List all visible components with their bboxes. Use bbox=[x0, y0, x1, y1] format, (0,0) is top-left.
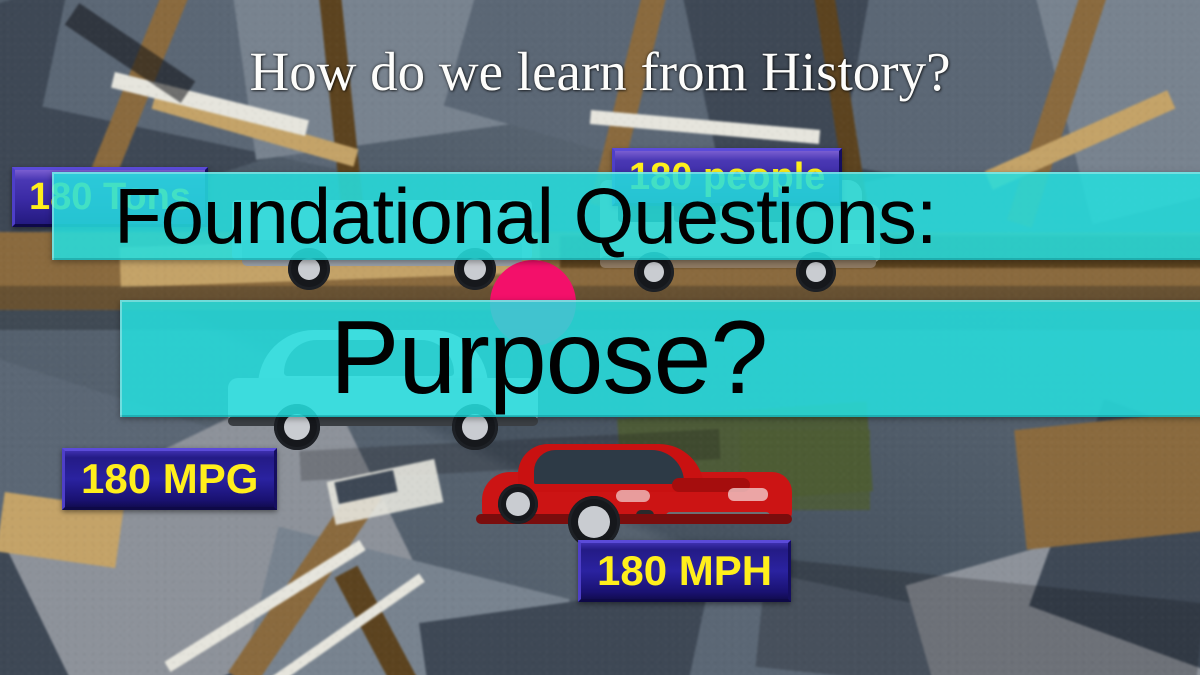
callout-180-mph: 180 MPH bbox=[578, 540, 791, 602]
banner-purpose-text: Purpose? bbox=[330, 309, 767, 408]
callout-180-mpg: 180 MPG bbox=[62, 448, 277, 510]
banner-foundational-questions: Foundational Questions: bbox=[52, 172, 1200, 260]
slide-canvas: How do we learn from History? 180 Tons 1… bbox=[0, 0, 1200, 675]
vehicle-red-sports-car bbox=[476, 432, 792, 548]
page-title: How do we learn from History? bbox=[0, 40, 1200, 103]
callout-180-mph-label: 180 MPH bbox=[597, 550, 772, 592]
banner-foundational-questions-text: Foundational Questions: bbox=[114, 179, 937, 253]
callout-180-mpg-label: 180 MPG bbox=[81, 458, 258, 500]
banner-purpose: Purpose? bbox=[120, 300, 1200, 417]
